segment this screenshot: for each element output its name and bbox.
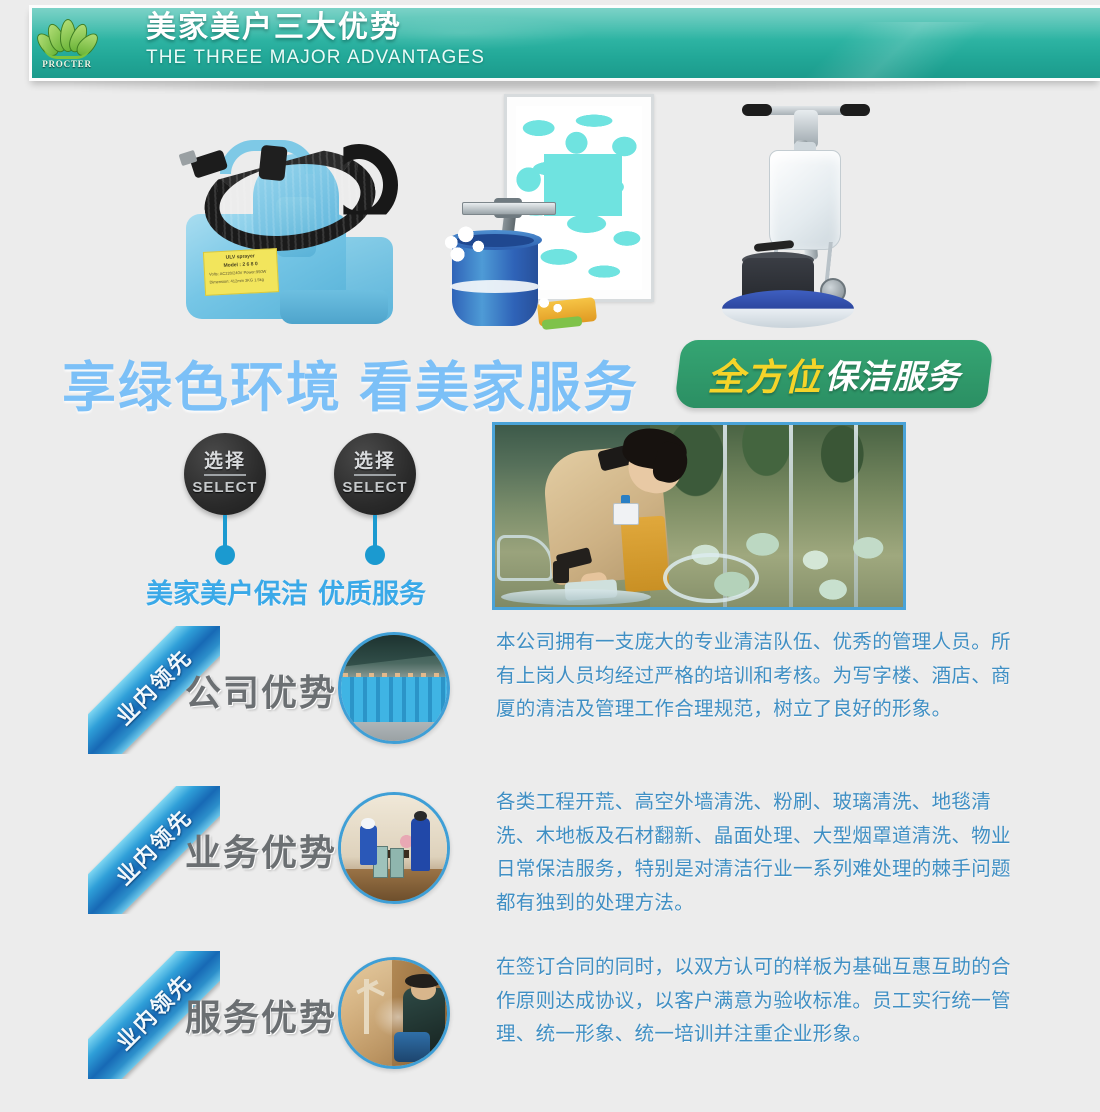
squeegee-blade-icon [462, 202, 556, 215]
logo-wordmark: PROCTER [42, 59, 92, 69]
floor-polisher-image [712, 92, 912, 337]
advantage-row-service: 业内领先 服务优势 在签订合同的同时，以双方认可的样板为基础互惠互助的合作原则达… [0, 947, 1100, 1112]
sprayer-label-specs: Volts: AC220/240V Power:950W Dimension: … [209, 267, 274, 286]
worker-id-badge [613, 503, 639, 525]
select-badge-1[interactable]: 选择 SELECT [184, 433, 266, 515]
select-badge-2[interactable]: 选择 SELECT [334, 433, 416, 515]
service-banner: 全方位 保洁服务 [674, 340, 994, 408]
leaves-icon [38, 18, 96, 58]
main-headline: 享绿色环境 看美家服务 [62, 343, 639, 422]
advantage-title-business: 业务优势 [185, 824, 337, 876]
header-swoosh-icon [655, 22, 1100, 82]
product-image-strip: ULV sprayer Model : 2 6 8 0 Volts: AC220… [0, 92, 1100, 340]
header-title-en: THE THREE MAJOR ADVANTAGES [146, 47, 485, 69]
polisher-tank [769, 150, 841, 250]
advantage-text-business: 各类工程开荒、高空外墙清洗、粉刷、玻璃清洗、地毯清洗、木地板及石材翻新、晶面处理… [496, 786, 1012, 920]
brand-logo: PROCTER [32, 8, 102, 78]
select-badge-1-en: SELECT [192, 479, 257, 496]
header-title-group: 美家美户三大优势 THE THREE MAJOR ADVANTAGES [146, 12, 485, 69]
badge-1-pin-icon [215, 545, 235, 565]
header-dropshadow [70, 82, 970, 91]
badge-2-pin-icon [365, 545, 385, 565]
select-badge-1-cn: 选择 [204, 452, 246, 477]
sprayer-spec-label: ULV sprayer Model : 2 6 8 0 Volts: AC220… [203, 248, 279, 296]
advantage-text-company: 本公司拥有一支庞大的专业清洁队伍、优秀的管理人员。所有上岗人员均经过严格的培训和… [496, 626, 1012, 727]
header-title-cn: 美家美户三大优势 [146, 12, 485, 44]
advantage-text-service: 在签订合同的同时，以双方认可的样板为基础互惠互助的合作原则达成协议，以客户满意为… [496, 951, 1012, 1052]
company-team-photo [338, 632, 450, 744]
advantage-title-company: 公司优势 [185, 664, 337, 716]
ulv-sprayer-image: ULV sprayer Model : 2 6 8 0 Volts: AC220… [168, 102, 418, 337]
advantage-title-service: 服务优势 [185, 989, 337, 1041]
select-badge-2-cn: 选择 [354, 452, 396, 477]
advantage-row-company: 业内领先 公司优势 本公司拥有一支庞大的专业清洁队伍、优秀的管理人员。所有上岗人… [0, 622, 1100, 787]
worker-cleaning-photo [492, 422, 906, 610]
select-badge-2-label: 优质服务 [318, 572, 426, 611]
page-header: PROCTER 美家美户三大优势 THE THREE MAJOR ADVANTA… [0, 0, 1100, 92]
polisher-disc [722, 290, 854, 328]
service-banner-highlight: 全方位 [708, 347, 822, 401]
interior-cleaning-photo [338, 792, 450, 904]
window-cleaning-image [442, 94, 692, 334]
spraying-worker-photo [338, 957, 450, 1069]
advantage-row-business: 业内领先 业务优势 各类工程开荒、高空外墙清洗、粉刷、玻璃清洗、地毯清洗、木地板… [0, 782, 1100, 947]
select-badge-1-label: 美家美户保洁 [146, 572, 308, 611]
service-banner-rest: 保洁服务 [825, 350, 961, 398]
select-badge-2-en: SELECT [342, 479, 407, 496]
